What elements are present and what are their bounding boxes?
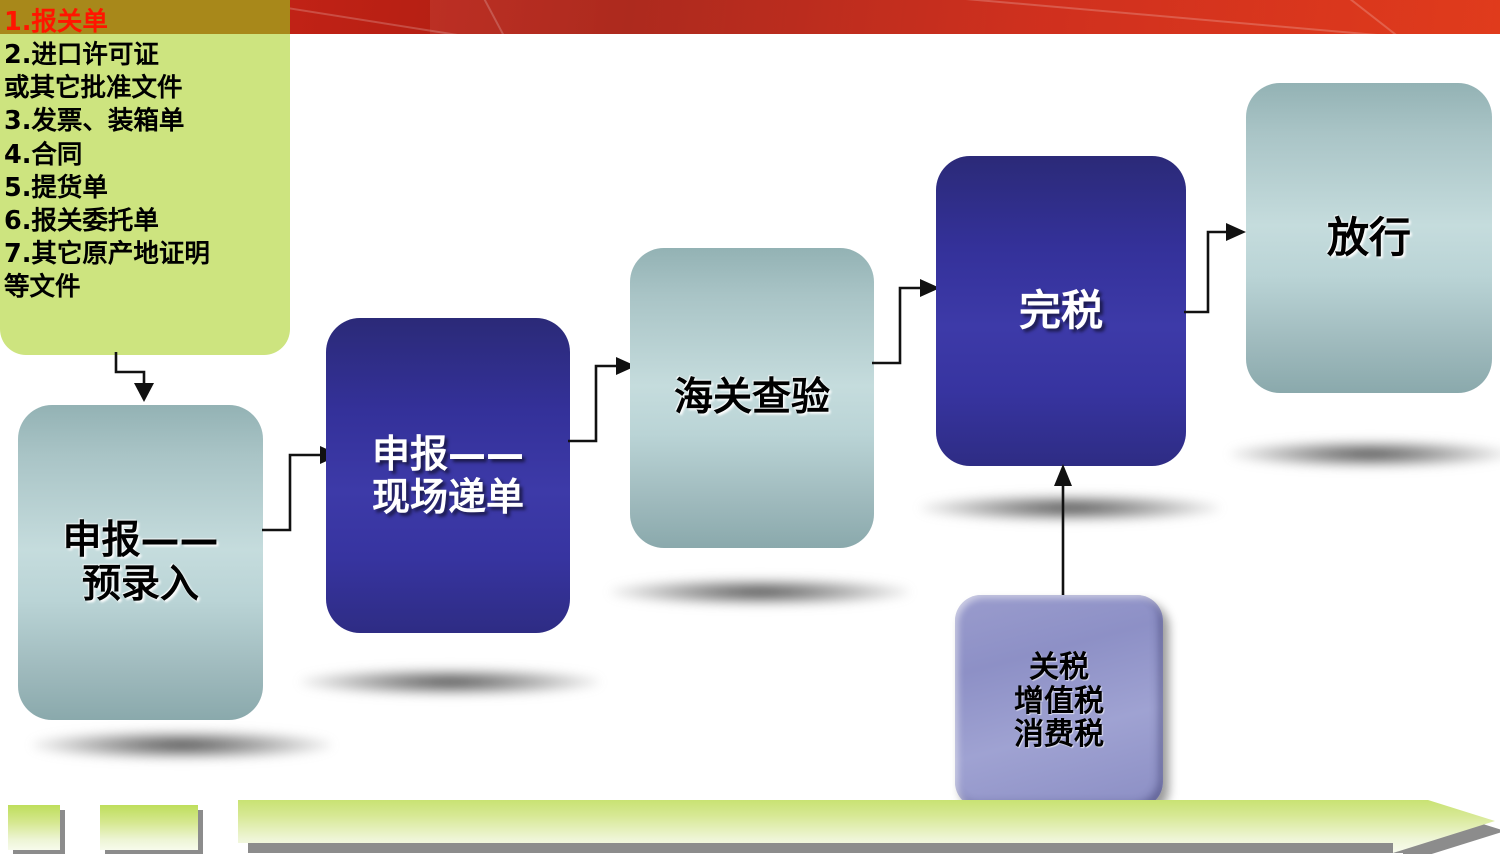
box-shadow-ellipse [32, 730, 332, 760]
doc-item-2: 2.进口许可证 [66, 39, 282, 72]
box-shadow-ellipse [1230, 440, 1500, 468]
step-label: 申报—— 预录入 [62, 519, 218, 606]
box-shadow-ellipse [610, 578, 910, 606]
banner-wedge [430, 0, 1500, 34]
box-shadow-ellipse [300, 668, 600, 696]
doc-item-4: 4.合同 [66, 139, 282, 172]
bottom-progress-arrow [238, 800, 1500, 854]
step-box-declaration-onsite-submission[interactable]: 申报—— 现场递单 [326, 318, 570, 633]
step-label: 海关查验 [674, 376, 830, 420]
step-box-customs-inspection[interactable]: 海关查验 [630, 248, 874, 548]
doc-item-7: 7.其它原产地证明 [66, 238, 282, 271]
bottom-chip-2 [100, 805, 198, 850]
doc-item-3: 3.发票、装箱单 [66, 105, 282, 138]
doc-item-5: 5.提货单 [66, 172, 282, 205]
bottom-chip-1 [8, 805, 60, 850]
slide-canvas: 1.报关单 2.进口许可证 或其它批准文件 3.发票、装箱单 4.合同 5.提货… [0, 0, 1500, 854]
doc-item-1: 1.报关单 [66, 6, 282, 39]
connector-doclist-to-step1 [100, 350, 210, 410]
step-label: 申报—— 现场递单 [372, 433, 524, 518]
step-box-duty-paid[interactable]: 完税 [936, 156, 1186, 466]
required-documents-list: 1.报关单 2.进口许可证 或其它批准文件 3.发票、装箱单 4.合同 5.提货… [0, 0, 290, 355]
step-box-release[interactable]: 放行 [1246, 83, 1492, 393]
step-label: 放行 [1327, 214, 1411, 261]
doc-item-7-cont: 等文件 [66, 271, 282, 304]
step-label: 完税 [1019, 287, 1103, 334]
doc-item-2-cont: 或其它批准文件 [66, 72, 282, 105]
step-box-declaration-pre-entry[interactable]: 申报—— 预录入 [18, 405, 263, 720]
doc-item-6: 6.报关委托单 [66, 205, 282, 238]
connector-taxes-to-duty-paid [1045, 462, 1085, 607]
tax-types-label: 关税 增值税 消费税 [1014, 651, 1104, 752]
tax-types-box[interactable]: 关税 增值税 消费税 [955, 595, 1163, 808]
